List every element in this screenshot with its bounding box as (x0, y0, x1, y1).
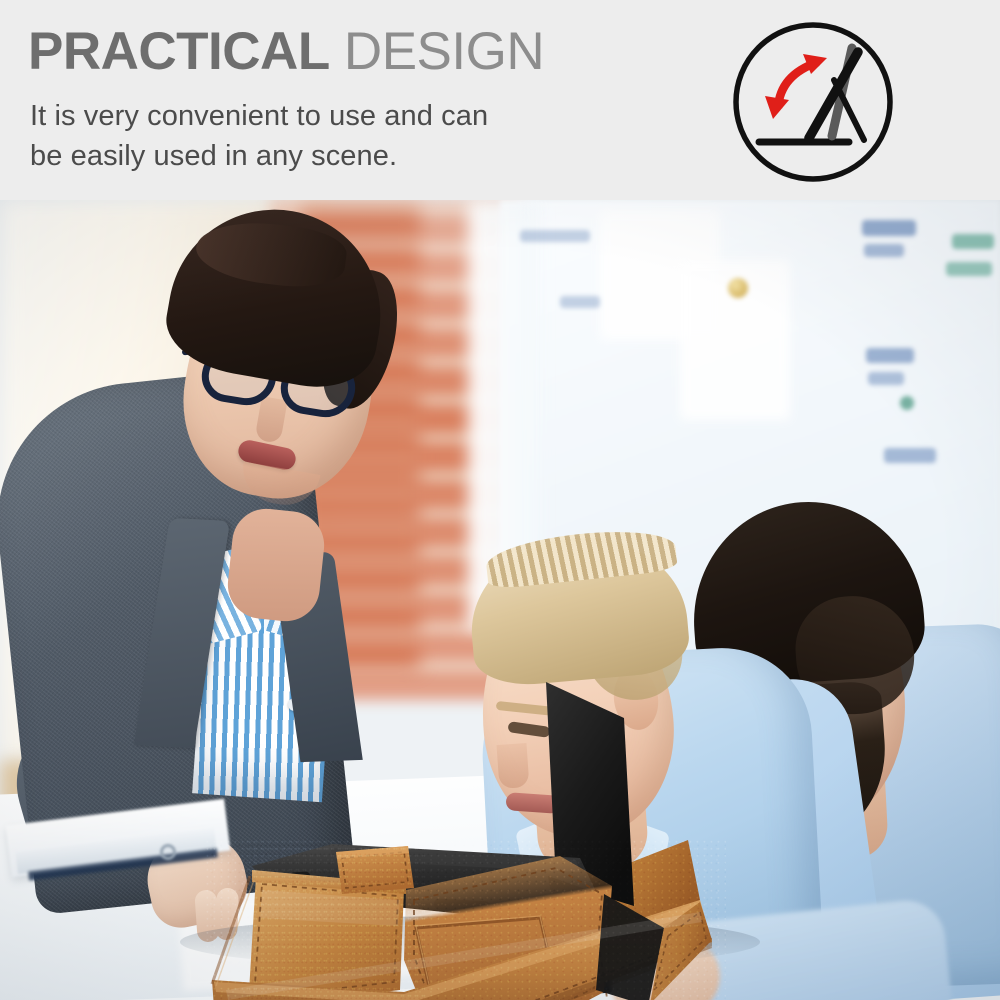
kickstand-viewing-angle-icon (731, 20, 895, 184)
leather-wallet-phone-case (0, 200, 1000, 1000)
subtitle-line-2: be easily used in any scene. (30, 136, 488, 176)
subtitle-line-1: It is very convenient to use and can (30, 96, 488, 136)
header-band: PRACTICAL DESIGN It is very convenient t… (0, 0, 1000, 200)
headline-strong: PRACTICAL (28, 22, 330, 81)
headline-light: DESIGN (330, 22, 544, 81)
page-title: PRACTICAL DESIGN (28, 22, 544, 82)
lifestyle-photo (0, 200, 1000, 1000)
subtitle: It is very convenient to use and can be … (30, 96, 488, 176)
product-feature-poster: PRACTICAL DESIGN It is very convenient t… (0, 0, 1000, 1000)
